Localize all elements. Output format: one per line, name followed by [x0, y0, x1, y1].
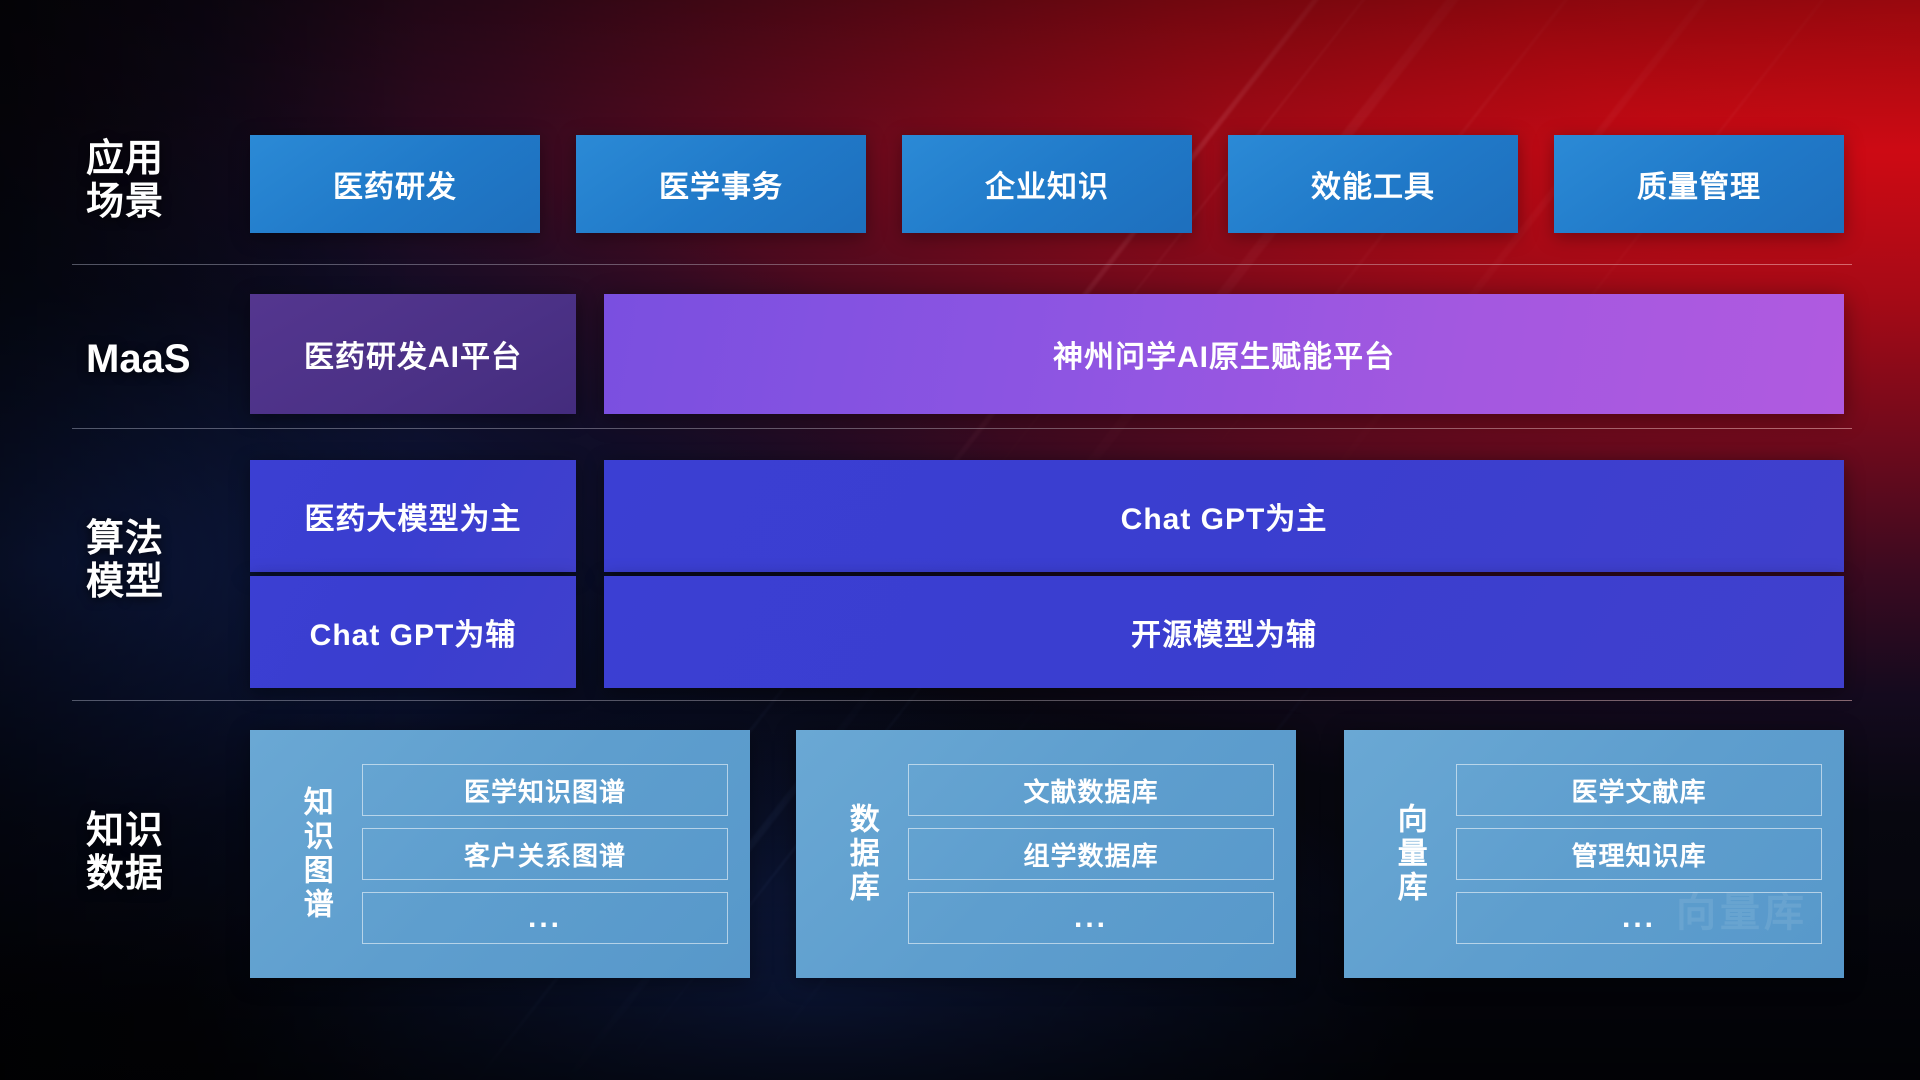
algo-card-right-2[interactable]: 开源模型为辅 — [604, 576, 1844, 688]
app-scenario-card-5[interactable]: 质量管理 — [1554, 135, 1844, 233]
knowledge-group-3-items: 医学文献库 管理知识库 ... — [1446, 764, 1844, 944]
algo-card-right-1-label: Chat GPT为主 — [1121, 494, 1328, 538]
knowledge-group-knowledge-graph[interactable]: 知识图谱 医学知识图谱 客户关系图谱 ... — [250, 730, 750, 978]
algo-card-left-2-label: Chat GPT为辅 — [310, 610, 517, 654]
app-scenario-card-1-label: 医药研发 — [333, 162, 457, 206]
app-scenario-card-5-label: 质量管理 — [1637, 162, 1761, 206]
maas-card-pharma-ai-platform[interactable]: 医药研发AI平台 — [250, 294, 576, 414]
algo-card-left-2[interactable]: Chat GPT为辅 — [250, 576, 576, 688]
knowledge-item-1-1[interactable]: 医学知识图谱 — [362, 764, 728, 816]
knowledge-item-3-2[interactable]: 管理知识库 — [1456, 828, 1822, 880]
row-label-knowledge-data: 知识数据 — [86, 810, 246, 897]
knowledge-group-2-vertical-label: 数据库 — [824, 754, 898, 954]
knowledge-item-1-3[interactable]: ... — [362, 892, 728, 944]
maas-card-pharma-ai-platform-label: 医药研发AI平台 — [304, 332, 522, 376]
app-scenario-card-1[interactable]: 医药研发 — [250, 135, 540, 233]
knowledge-group-1-vertical-label: 知识图谱 — [278, 754, 352, 954]
row-label-maas: MaaS — [86, 337, 246, 383]
app-scenario-card-2[interactable]: 医学事务 — [576, 135, 866, 233]
divider-1 — [72, 264, 1852, 265]
knowledge-group-1-items: 医学知识图谱 客户关系图谱 ... — [352, 764, 750, 944]
app-scenario-card-3[interactable]: 企业知识 — [902, 135, 1192, 233]
row-label-application-scenarios: 应用场景 — [86, 138, 246, 225]
divider-2 — [72, 428, 1852, 429]
algo-card-left-1-label: 医药大模型为主 — [305, 494, 522, 538]
knowledge-item-2-2[interactable]: 组学数据库 — [908, 828, 1274, 880]
knowledge-item-3-1[interactable]: 医学文献库 — [1456, 764, 1822, 816]
knowledge-item-2-3[interactable]: ... — [908, 892, 1274, 944]
knowledge-group-2-items: 文献数据库 组学数据库 ... — [898, 764, 1296, 944]
slide-canvas: 应用场景 医药研发 医学事务 企业知识 效能工具 质量管理 MaaS 医药研发A… — [0, 0, 1920, 1080]
algo-card-right-2-label: 开源模型为辅 — [1131, 610, 1317, 654]
row-label-algorithm-models: 算法模型 — [86, 518, 246, 605]
algo-card-right-1[interactable]: Chat GPT为主 — [604, 460, 1844, 572]
divider-3 — [72, 700, 1852, 701]
knowledge-item-3-3[interactable]: ... — [1456, 892, 1822, 944]
knowledge-item-2-1[interactable]: 文献数据库 — [908, 764, 1274, 816]
app-scenario-card-4[interactable]: 效能工具 — [1228, 135, 1518, 233]
maas-card-shenzhou-platform[interactable]: 神州问学AI原生赋能平台 — [604, 294, 1844, 414]
knowledge-group-database[interactable]: 数据库 文献数据库 组学数据库 ... — [796, 730, 1296, 978]
app-scenario-card-2-label: 医学事务 — [659, 162, 783, 206]
app-scenario-card-4-label: 效能工具 — [1311, 162, 1435, 206]
knowledge-group-vector-store[interactable]: 向量库 医学文献库 管理知识库 ... — [1344, 730, 1844, 978]
app-scenario-card-3-label: 企业知识 — [985, 162, 1109, 206]
algo-card-left-1[interactable]: 医药大模型为主 — [250, 460, 576, 572]
knowledge-group-3-vertical-label: 向量库 — [1372, 754, 1446, 954]
maas-card-shenzhou-platform-label: 神州问学AI原生赋能平台 — [1053, 332, 1395, 376]
knowledge-item-1-2[interactable]: 客户关系图谱 — [362, 828, 728, 880]
